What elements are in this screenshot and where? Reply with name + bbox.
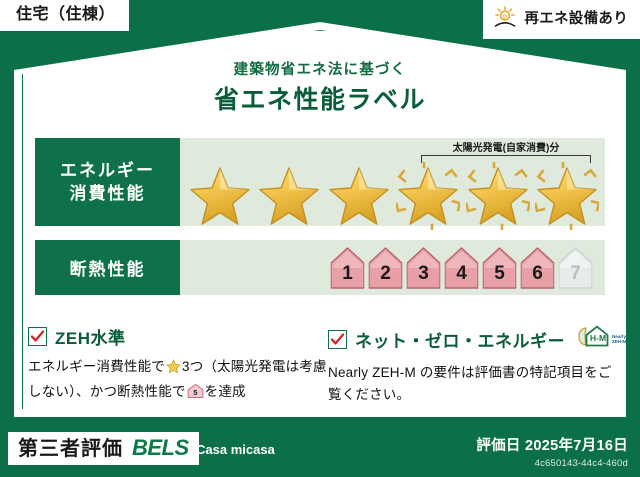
insulation-grade-1: 1 xyxy=(330,246,365,290)
net-zero-energy-description: Nearly ZEH-M の要件は評価書の特記項目をご覧ください。 xyxy=(328,362,618,406)
zeh-desc-part1: エネルギー消費性能で xyxy=(28,359,165,374)
insulation-grade-value: 6 xyxy=(532,263,543,290)
net-zero-energy-heading: ネット・ゼロ・エネルギー H-M Nearly ZEH-M xyxy=(328,324,618,355)
insulation-grade-value: 1 xyxy=(342,263,353,290)
insulation-grade-2: 2 xyxy=(368,246,403,290)
zeh-m-house-logo: H-M Nearly ZEH-M xyxy=(575,324,629,355)
evaluation-date: 評価日 2025年7月16日 xyxy=(476,434,628,455)
zeh-m-logo-sub2: ZEH-M xyxy=(612,339,627,344)
energy-performance-label: エネルギー 消費性能 xyxy=(35,138,180,226)
insulation-grade-value: 4 xyxy=(456,263,467,290)
insulation-performance-label: 断熱性能 xyxy=(35,240,180,295)
insulation-grade-6: 6 xyxy=(520,246,555,290)
zeh-standard-description: エネルギー消費性能で3つ（太陽光発電は考慮しない）、かつ断熱性能で5を達成 xyxy=(28,356,328,406)
insulation-grade-3: 3 xyxy=(406,246,441,290)
star-6 xyxy=(535,162,599,224)
insulation-grade-value: 3 xyxy=(418,263,429,290)
zeh-standard-heading: ZEH水準 xyxy=(28,324,328,349)
building-type-label: 住宅（住棟） xyxy=(16,6,115,23)
evaluation-id: 4c650143-44c4-460d xyxy=(476,458,628,469)
energy-star-rating xyxy=(188,162,599,224)
insulation-grade-4: 4 xyxy=(444,246,479,290)
bels-logo-text: BELS xyxy=(132,437,189,459)
insulation-grade-value: 5 xyxy=(494,263,505,290)
star-5 xyxy=(466,162,530,224)
energy-label-line1: エネルギー xyxy=(60,159,155,182)
pv-self-consumption-bracket: 太陽光発電(自家消費)分 xyxy=(421,140,591,164)
zeh-standard-block: ZEH水準 エネルギー消費性能で3つ（太陽光発電は考慮しない）、かつ断熱性能で5… xyxy=(28,324,328,406)
pv-bracket-label: 太陽光発電(自家消費)分 xyxy=(421,139,591,154)
house-grade-icon: 5 xyxy=(187,383,204,406)
sun-solar-icon: D xyxy=(493,6,517,32)
insulation-performance-row: 断熱性能 1234567 xyxy=(35,240,605,295)
svg-text:D: D xyxy=(503,14,507,20)
label-footer: 第三者評価 BELS Casa micasa 評価日 2025年7月16日 4c… xyxy=(0,422,640,477)
insulation-label-text: 断熱性能 xyxy=(70,255,146,280)
insulation-grade-5: 5 xyxy=(482,246,517,290)
label-subtitle: 建築物省エネ法に基づく xyxy=(0,58,640,79)
bels-certification-box: 第三者評価 BELS xyxy=(8,432,199,465)
net-zero-energy-block: ネット・ゼロ・エネルギー H-M Nearly ZEH-M Nearly ZEH… xyxy=(328,324,618,406)
zeh-desc-part3: を達成 xyxy=(205,384,246,399)
owner-name: Casa micasa xyxy=(196,442,275,457)
label-title: 省エネ性能ラベル xyxy=(0,80,640,116)
check-icon xyxy=(28,327,47,346)
energy-label-line2: 消費性能 xyxy=(70,182,146,205)
check-icon xyxy=(328,330,347,349)
insulation-grade-value: 2 xyxy=(380,263,391,290)
renewable-badge-label: 再エネ設備あり xyxy=(524,12,628,27)
house-grade-value: 5 xyxy=(193,388,197,397)
star-4 xyxy=(396,162,460,224)
third-party-evaluation-label: 第三者評価 xyxy=(18,439,123,459)
energy-performance-row: エネルギー 消費性能 太陽光発電(自家消費)分 xyxy=(35,138,605,226)
star-3 xyxy=(327,162,391,224)
star-2 xyxy=(257,162,321,224)
energy-label-card: 住宅（住棟） D 再エネ設備あり 建築物省エネ法に基づく 省エネ性能ラベル xyxy=(0,0,640,477)
insulation-grade-value: 7 xyxy=(570,263,581,290)
zeh-standard-title: ZEH水準 xyxy=(55,324,126,349)
insulation-grade-7: 7 xyxy=(558,246,593,290)
evaluation-meta: 評価日 2025年7月16日 4c650143-44c4-460d xyxy=(476,434,628,469)
insulation-performance-panel: 1234567 xyxy=(180,240,605,295)
star-1 xyxy=(188,162,252,224)
net-zero-energy-title: ネット・ゼロ・エネルギー xyxy=(355,327,565,352)
zeh-m-logo-text: H-M xyxy=(590,333,606,343)
star-icon xyxy=(166,359,181,381)
building-type-tag: 住宅（住棟） xyxy=(0,0,129,31)
energy-performance-panel: 太陽光発電(自家消費)分 xyxy=(180,138,605,226)
insulation-grade-scale: 1234567 xyxy=(330,245,593,290)
renewable-equipment-badge: D 再エネ設備あり xyxy=(483,0,640,39)
